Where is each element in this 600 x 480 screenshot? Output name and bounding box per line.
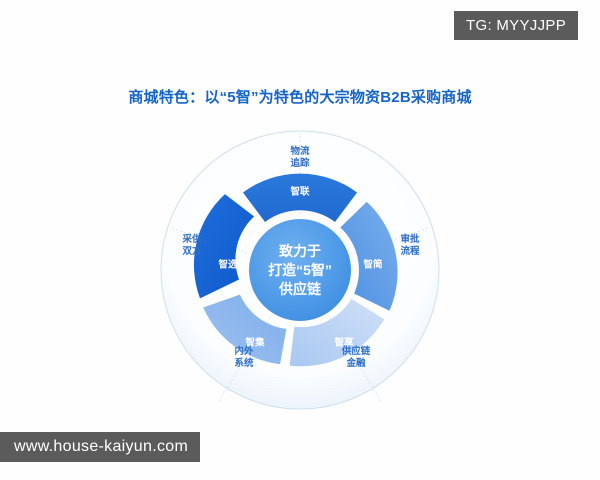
svg-text:双方: 双方	[181, 245, 202, 257]
svg-text:金融: 金融	[345, 357, 366, 369]
five-zhi-wheel-diagram: 智联 智简 智享 智集 智选 物流 追踪 审批 流程 供应链 金融 内外 系统	[160, 130, 440, 410]
segment-label-zhilian: 智联	[290, 186, 310, 198]
segment-label-zhixuan: 智选	[218, 259, 238, 271]
svg-text:流程: 流程	[400, 245, 420, 257]
svg-text:供应链: 供应链	[341, 345, 371, 357]
diagram-canvas: TG: MYYJJPP 商城特色：以“5智”为特色的大宗物资B2B采购商城	[0, 0, 600, 480]
svg-text:内外: 内外	[234, 345, 254, 357]
svg-text:系统: 系统	[234, 357, 254, 369]
svg-text:物流: 物流	[290, 145, 310, 157]
page-title: 商城特色：以“5智”为特色的大宗物资B2B采购商城	[0, 86, 600, 107]
watermark-top-right: TG: MYYJJPP	[454, 11, 578, 40]
watermark-bottom-left: www.house-kaiyun.com	[0, 432, 200, 462]
svg-text:供应链: 供应链	[278, 281, 322, 297]
segment-label-zhijian: 智简	[363, 259, 383, 271]
svg-text:致力于: 致力于	[279, 243, 321, 259]
svg-text:审批: 审批	[400, 233, 420, 245]
svg-text:追踪: 追踪	[290, 157, 310, 169]
svg-text:打造“5智”: 打造“5智”	[268, 262, 332, 278]
svg-text:采供: 采供	[181, 233, 202, 245]
